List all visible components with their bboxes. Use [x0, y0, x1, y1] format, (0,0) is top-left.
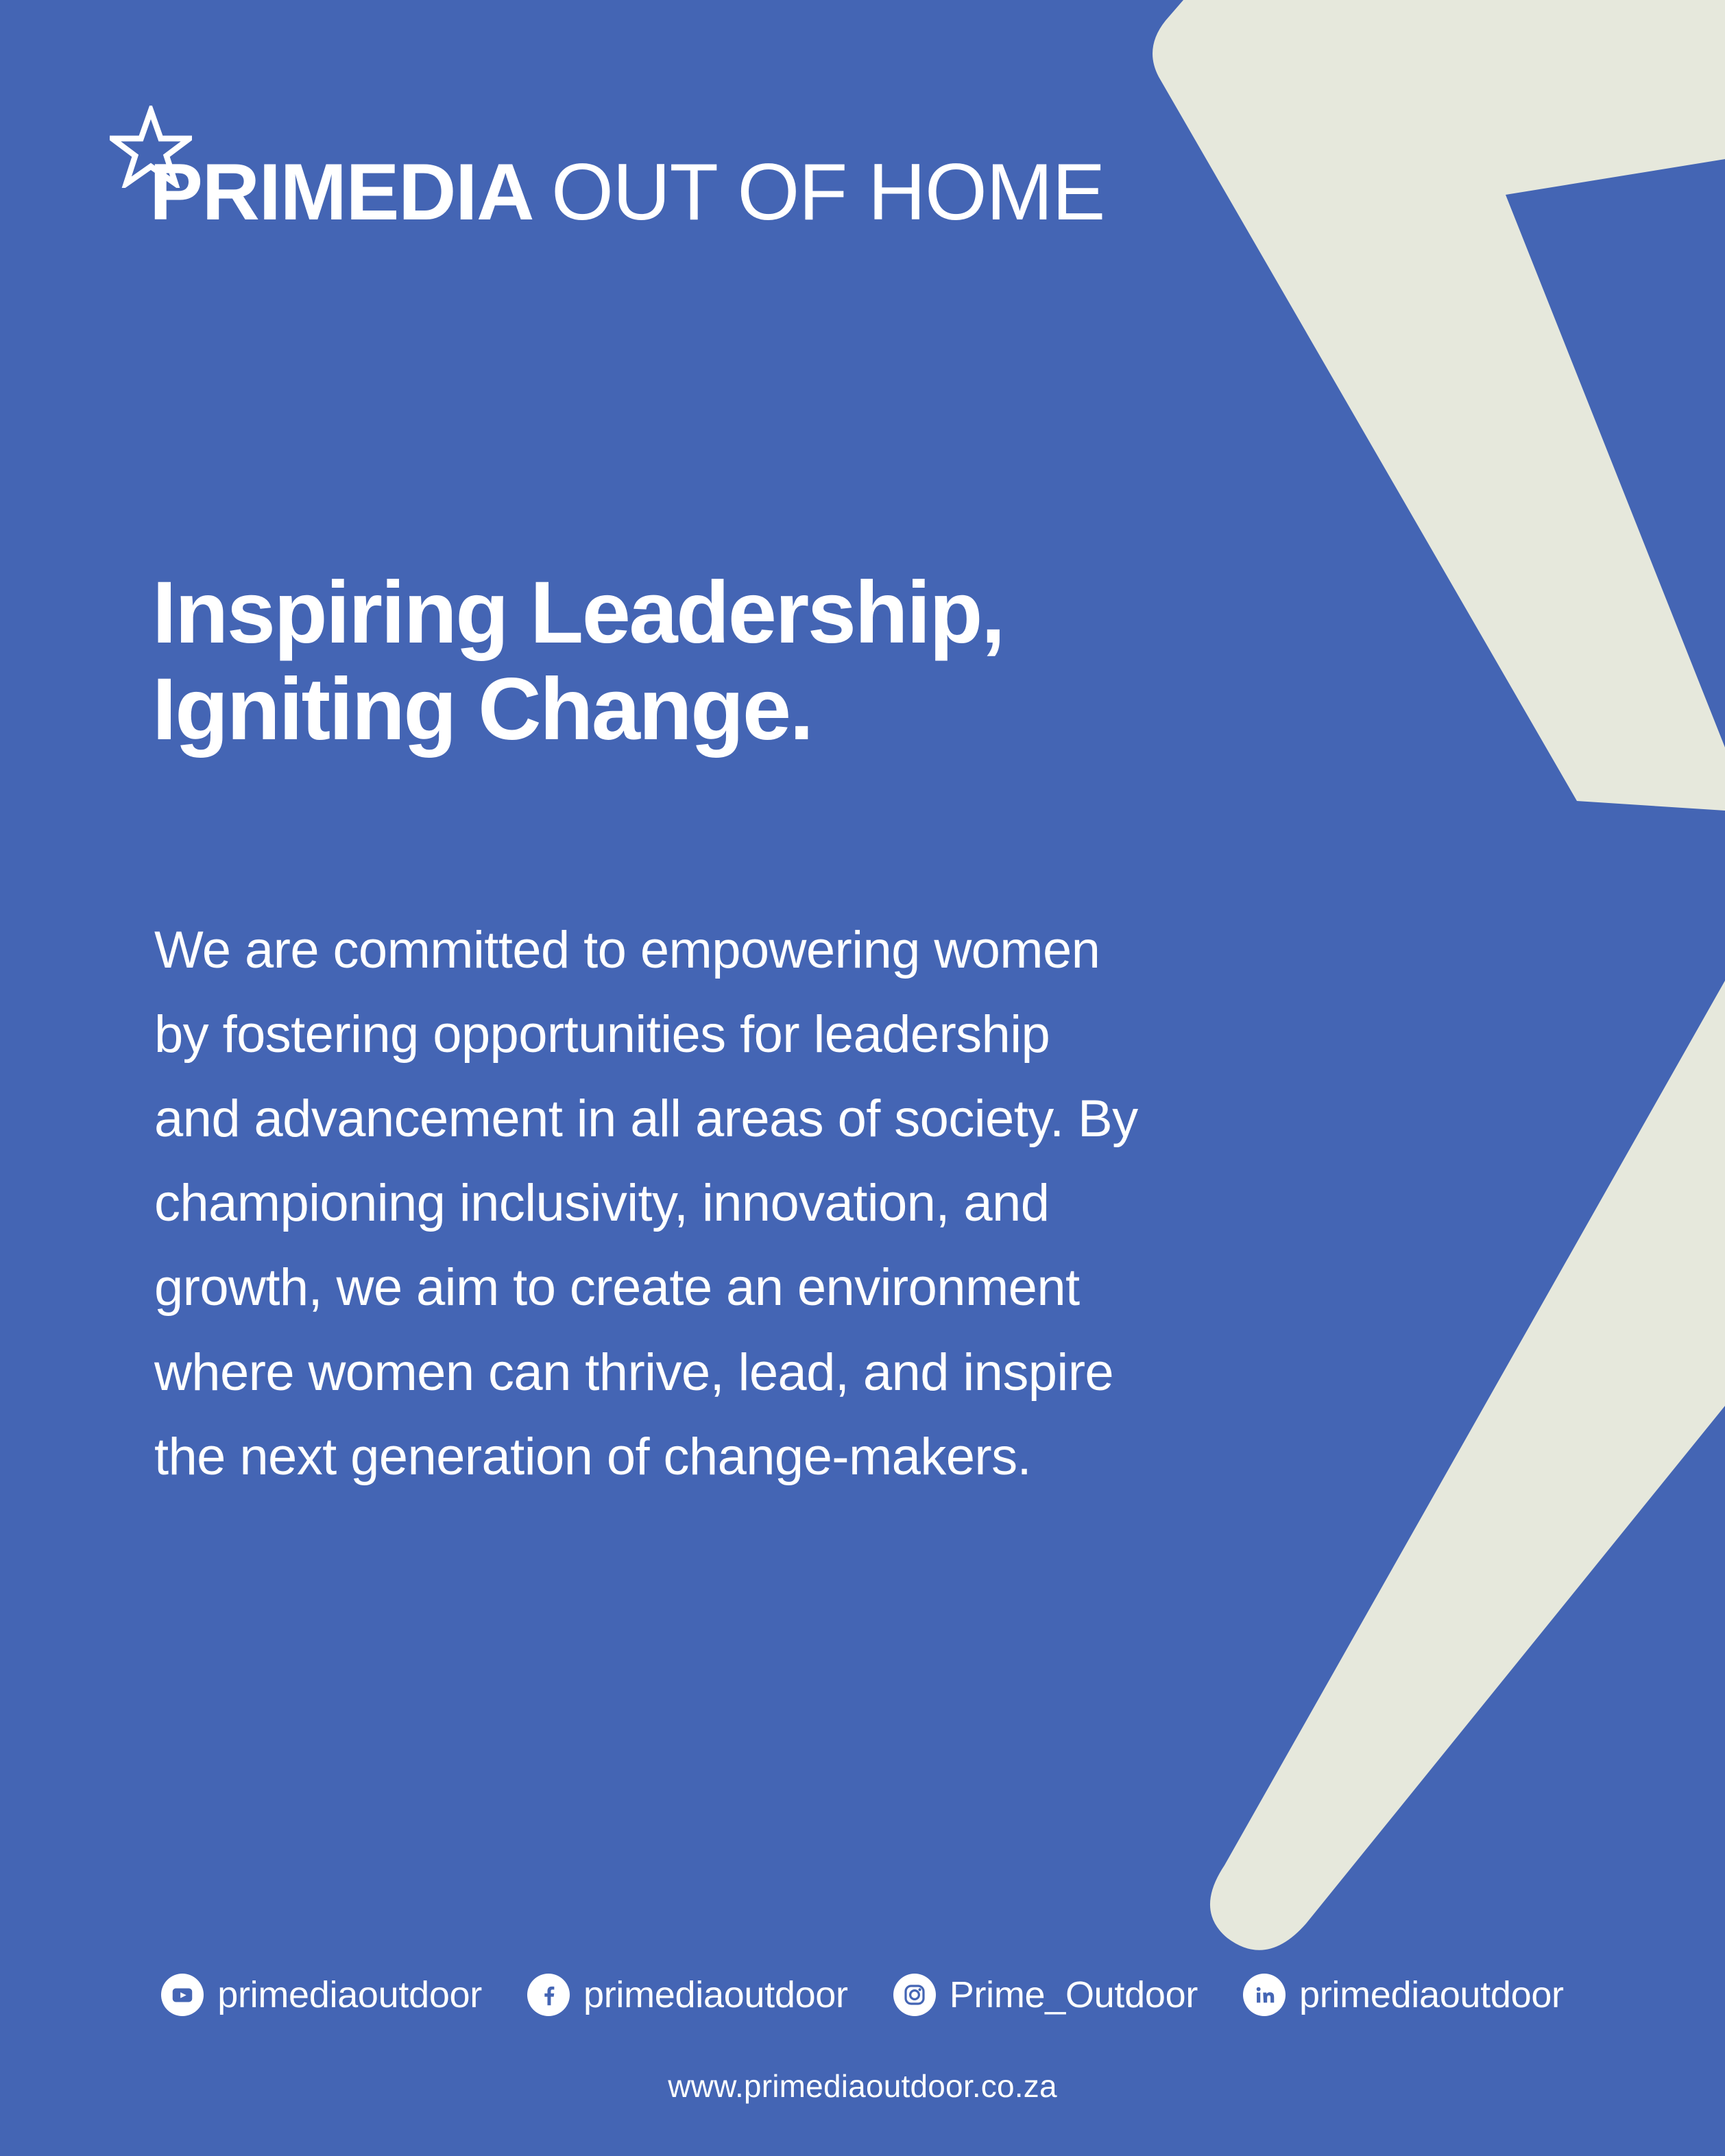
social-handle-instagram: Prime_Outdoor: [950, 1974, 1198, 2016]
social-link-instagram[interactable]: Prime_Outdoor: [893, 1974, 1198, 2016]
social-link-linkedin[interactable]: primediaoutdoor: [1243, 1974, 1564, 2016]
instagram-icon: [893, 1974, 936, 2016]
body-paragraph: We are committed to empowering women by …: [154, 908, 1457, 1499]
website-url[interactable]: www.primediaoutdoor.co.za: [0, 2068, 1725, 2105]
social-links-bar: primediaoutdoor primediaoutdoor Prime_Ou…: [0, 1974, 1725, 2016]
body-line-7: the next generation of change-makers.: [154, 1415, 1457, 1499]
headline-line-2: Igniting Change.: [152, 662, 1386, 758]
brand-logo: PRIMEDIAOUT OF HOME: [103, 115, 1105, 232]
social-handle-youtube: primediaoutdoor: [217, 1974, 482, 2016]
poster-canvas: PRIMEDIAOUT OF HOME Inspiring Leadership…: [0, 0, 1725, 2156]
body-line-3: and advancement in all areas of society.…: [154, 1077, 1457, 1161]
body-line-2: by fostering opportunities for leadershi…: [154, 992, 1457, 1077]
headline-line-1: Inspiring Leadership,: [152, 565, 1386, 662]
body-line-4: championing inclusivity, innovation, and: [154, 1161, 1457, 1245]
logo-word-primedia: PRIMEDIA: [149, 147, 533, 237]
linkedin-icon: [1243, 1974, 1286, 2016]
facebook-icon: [527, 1974, 570, 2016]
body-line-1: We are committed to empowering women: [154, 908, 1457, 992]
social-link-youtube[interactable]: primediaoutdoor: [161, 1974, 482, 2016]
social-handle-facebook: primediaoutdoor: [583, 1974, 848, 2016]
social-handle-linkedin: primediaoutdoor: [1299, 1974, 1564, 2016]
social-link-facebook[interactable]: primediaoutdoor: [527, 1974, 848, 2016]
body-line-6: where women can thrive, lead, and inspir…: [154, 1330, 1457, 1415]
logo-wordmark: PRIMEDIAOUT OF HOME: [149, 152, 1105, 232]
page-title: Inspiring Leadership, Igniting Change.: [152, 565, 1386, 758]
body-line-5: growth, we aim to create an environment: [154, 1245, 1457, 1330]
logo-word-out-of-home: OUT OF HOME: [551, 147, 1105, 237]
youtube-icon: [161, 1974, 204, 2016]
